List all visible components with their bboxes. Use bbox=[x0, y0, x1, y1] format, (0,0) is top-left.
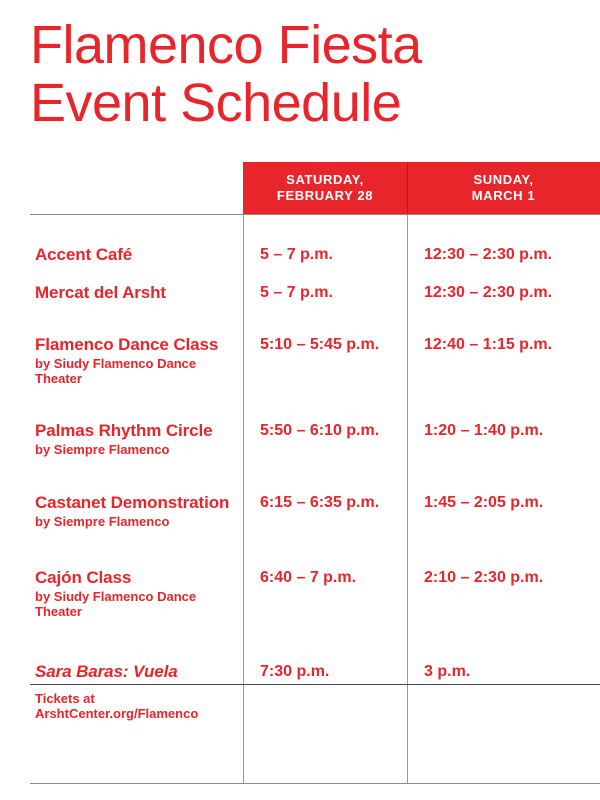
page-title: Flamenco Fiesta Event Schedule bbox=[30, 16, 570, 132]
event-subtitle: Tickets at ArshtCenter.org/Flamenco bbox=[35, 691, 233, 721]
sunday-time: 1:20 – 1:40 p.m. bbox=[424, 420, 600, 441]
table-row: Flamenco Dance Class by Siudy Flamenco D… bbox=[30, 312, 600, 397]
table-row: Accent Café 5 – 7 p.m. 12:30 – 2:30 p.m. bbox=[30, 214, 600, 262]
event-subtitle: by Siempre Flamenco bbox=[35, 514, 233, 529]
column-header-sunday-line-1: SUNDAY, bbox=[473, 172, 533, 188]
sunday-time: 3 p.m. bbox=[424, 661, 600, 682]
event-title: Castanet Demonstration bbox=[35, 492, 233, 513]
row-sunday-cell: 2:10 – 2:30 p.m. bbox=[407, 567, 600, 588]
row-saturday-cell: 5:50 – 6:10 p.m. bbox=[243, 420, 407, 441]
column-header-sunday-line-2: MARCH 1 bbox=[472, 188, 535, 204]
header-column-divider bbox=[407, 162, 408, 214]
row-saturday-cell: 6:40 – 7 p.m. bbox=[243, 567, 407, 588]
saturday-time: 7:30 p.m. bbox=[260, 661, 407, 682]
event-title: Mercat del Arsht bbox=[35, 282, 233, 303]
page-title-line-2: Event Schedule bbox=[30, 74, 570, 132]
column-header-saturday-line-2: FEBRUARY 28 bbox=[277, 188, 373, 204]
page-title-line-1: Flamenco Fiesta bbox=[30, 16, 570, 74]
row-event-cell: Mercat del Arsht bbox=[30, 282, 243, 303]
row-event-cell: Cajón Class by Siudy Flamenco Dance Thea… bbox=[30, 567, 243, 619]
table-row: Cajón Class by Siudy Flamenco Dance Thea… bbox=[30, 547, 600, 633]
table-row: Palmas Rhythm Circle by Siempre Flamenco… bbox=[30, 397, 600, 472]
saturday-time: 6:40 – 7 p.m. bbox=[260, 567, 407, 588]
table-bottom-rule bbox=[30, 783, 600, 784]
event-title: Sara Baras: Vuela bbox=[35, 661, 233, 682]
row-sunday-cell: 1:45 – 2:05 p.m. bbox=[407, 492, 600, 513]
event-subtitle: by Siempre Flamenco bbox=[35, 442, 233, 457]
column-header-saturday-line-1: SATURDAY, bbox=[286, 172, 364, 188]
saturday-time: 6:15 – 6:35 p.m. bbox=[260, 492, 407, 513]
event-schedule-poster: Flamenco Fiesta Event Schedule SATURDAY,… bbox=[0, 0, 600, 800]
row-saturday-cell: 7:30 p.m. bbox=[243, 661, 407, 682]
row-sunday-cell: 12:30 – 2:30 p.m. bbox=[407, 282, 600, 303]
event-title: Cajón Class bbox=[35, 567, 233, 588]
sunday-time: 12:30 – 2:30 p.m. bbox=[424, 282, 600, 303]
row-event-cell: Flamenco Dance Class by Siudy Flamenco D… bbox=[30, 334, 243, 386]
event-subtitle: by Siudy Flamenco Dance Theater bbox=[35, 356, 233, 386]
row-event-cell: Palmas Rhythm Circle by Siempre Flamenco bbox=[30, 420, 243, 457]
event-subtitle: by Siudy Flamenco Dance Theater bbox=[35, 589, 233, 619]
event-title: Palmas Rhythm Circle bbox=[35, 420, 233, 441]
row-sunday-cell: 3 p.m. bbox=[407, 661, 600, 682]
saturday-time: 5 – 7 p.m. bbox=[260, 282, 407, 303]
sunday-time: 12:40 – 1:15 p.m. bbox=[424, 334, 600, 355]
sunday-time: 2:10 – 2:30 p.m. bbox=[424, 567, 600, 588]
row-saturday-cell: 6:15 – 6:35 p.m. bbox=[243, 492, 407, 513]
column-header-sunday: SUNDAY, MARCH 1 bbox=[407, 162, 600, 214]
row-saturday-cell: 5:10 – 5:45 p.m. bbox=[243, 334, 407, 355]
table-row-featured: Sara Baras: Vuela Tickets at ArshtCenter… bbox=[30, 633, 600, 733]
saturday-time: 5:50 – 6:10 p.m. bbox=[260, 420, 407, 441]
row-event-cell: Castanet Demonstration by Siempre Flamen… bbox=[30, 492, 243, 529]
event-title: Flamenco Dance Class bbox=[35, 334, 233, 355]
schedule-table: SATURDAY, FEBRUARY 28 SUNDAY, MARCH 1 Ac… bbox=[30, 162, 600, 784]
row-event-cell: Sara Baras: Vuela Tickets at ArshtCenter… bbox=[30, 661, 243, 721]
table-row: Castanet Demonstration by Siempre Flamen… bbox=[30, 472, 600, 547]
row-saturday-cell: 5 – 7 p.m. bbox=[243, 282, 407, 303]
row-sunday-cell: 12:40 – 1:15 p.m. bbox=[407, 334, 600, 355]
table-row: Mercat del Arsht 5 – 7 p.m. 12:30 – 2:30… bbox=[30, 262, 600, 312]
schedule-rows: Accent Café 5 – 7 p.m. 12:30 – 2:30 p.m.… bbox=[30, 214, 600, 733]
column-header-saturday: SATURDAY, FEBRUARY 28 bbox=[243, 162, 407, 214]
row-sunday-cell: 1:20 – 1:40 p.m. bbox=[407, 420, 600, 441]
sunday-time: 1:45 – 2:05 p.m. bbox=[424, 492, 600, 513]
saturday-time: 5:10 – 5:45 p.m. bbox=[260, 334, 407, 355]
